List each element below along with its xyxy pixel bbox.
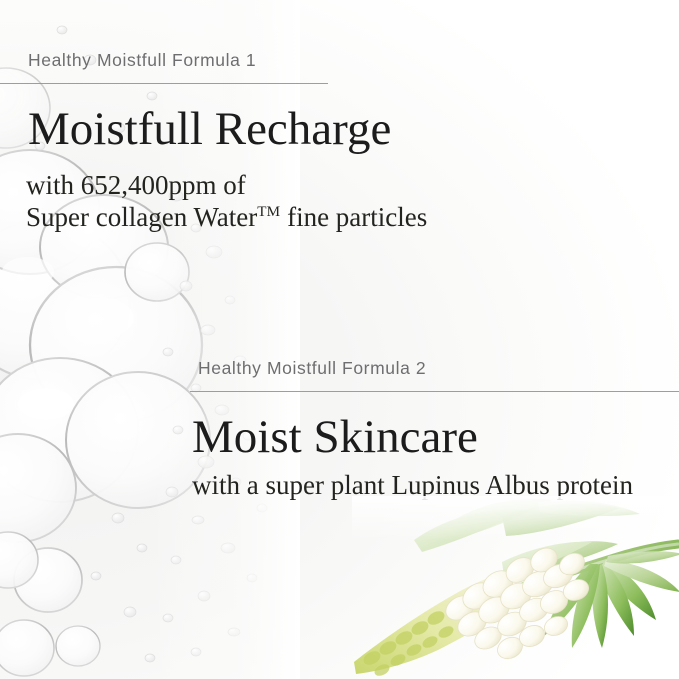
- formula-2-headline: Moist Skincare: [192, 414, 679, 461]
- formula-1-block: Healthy Moistfull Formula 1 Moistfull Re…: [0, 52, 340, 234]
- formula-1-subtitle: with 652,400ppm of Super collagen WaterT…: [26, 169, 340, 235]
- lupinus-albus-photo: [352, 496, 679, 679]
- product-detail-banner: Healthy Moistfull Formula 1 Moistfull Re…: [0, 0, 679, 679]
- formula-2-kicker: Healthy Moistfull Formula 2: [198, 360, 679, 378]
- formula-1-kicker: Healthy Moistfull Formula 1: [28, 52, 340, 70]
- formula-1-headline: Moistfull Recharge: [28, 106, 340, 153]
- formula-2-block: Healthy Moistfull Formula 2 Moist Skinca…: [190, 360, 679, 501]
- trademark-symbol: TM: [257, 204, 280, 220]
- formula-2-divider: [190, 391, 679, 392]
- formula-1-subtitle-line2-suffix: fine particles: [280, 202, 427, 232]
- formula-1-subtitle-line1: with 652,400ppm of: [26, 170, 246, 200]
- formula-1-subtitle-line2-prefix: Super collagen Water: [26, 202, 257, 232]
- formula-1-divider: [0, 83, 328, 84]
